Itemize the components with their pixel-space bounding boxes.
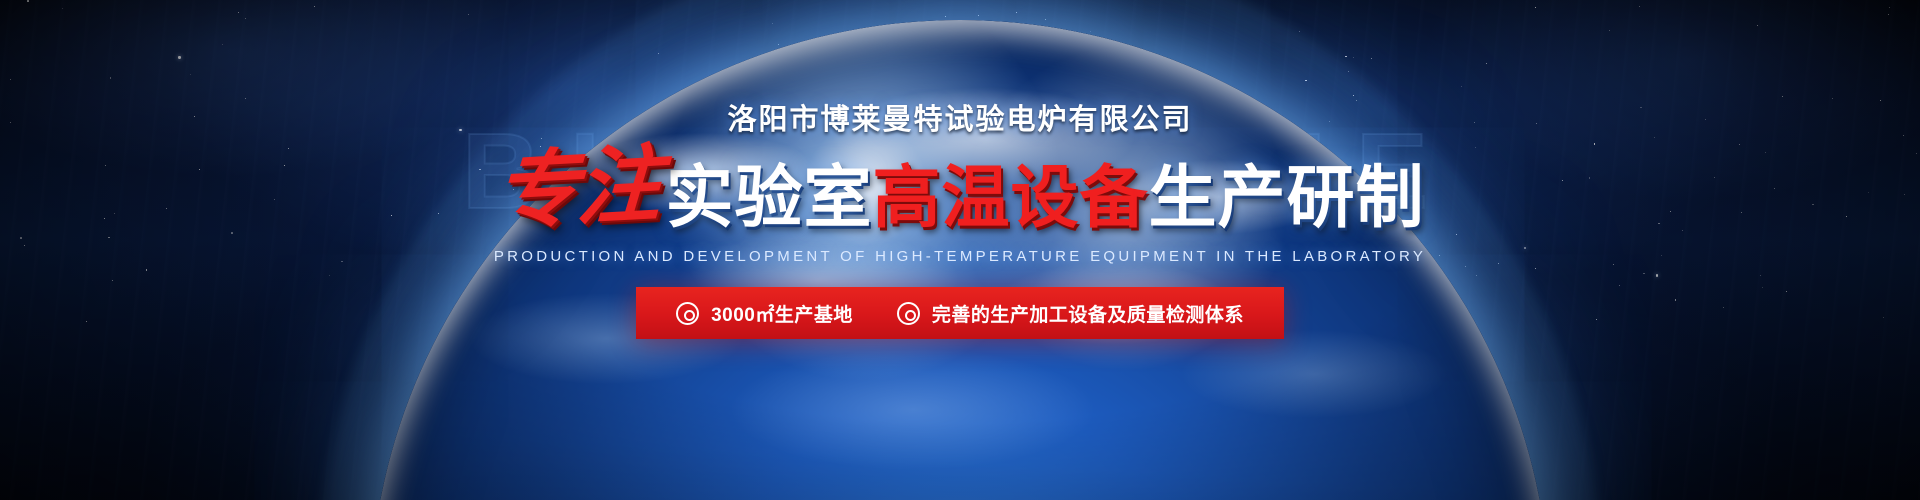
headline-brush-word: 专注 (493, 142, 661, 235)
feature-item-2-label: 完善的生产加工设备及质量检测体系 (932, 300, 1244, 327)
feature-item-2: 完善的生产加工设备及质量检测体系 (897, 300, 1244, 327)
hero-banner: BLUE FLAME 洛阳市博莱曼特试验电炉有限公司 专注 实验室 高温设备 生… (0, 0, 1920, 500)
headline-segment-2: 高温设备 (873, 164, 1149, 232)
double-circle-icon (897, 302, 920, 325)
headline: 专注 实验室 高温设备 生产研制 (495, 146, 1424, 232)
feature-item-1: 3000㎡生产基地 (676, 300, 853, 327)
company-name: 洛阳市博莱曼特试验电炉有限公司 (727, 96, 1192, 138)
feature-bar: 3000㎡生产基地 完善的生产加工设备及质量检测体系 (636, 287, 1284, 339)
english-subtitle: PRODUCTION AND DEVELOPMENT OF HIGH-TEMPE… (494, 248, 1426, 265)
headline-segment-1: 实验室 (665, 164, 872, 232)
headline-segment-3: 生产研制 (1149, 164, 1425, 232)
banner-content: 洛阳市博莱曼特试验电炉有限公司 专注 实验室 高温设备 生产研制 PRODUCT… (0, 0, 1920, 500)
double-circle-icon (676, 302, 699, 325)
feature-item-1-label: 3000㎡生产基地 (711, 300, 853, 327)
